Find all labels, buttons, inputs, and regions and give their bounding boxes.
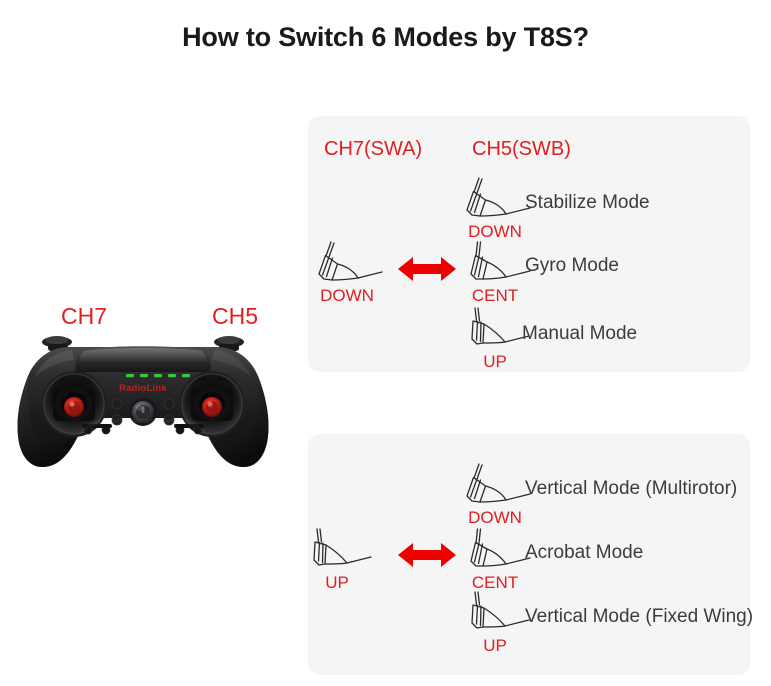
switch-position-label: DOWN xyxy=(310,286,384,306)
transmitter-caption-ch7: CH7 xyxy=(61,303,107,330)
radiolink-t8s-transmitter: RadioLink xyxy=(12,334,274,500)
switch-ch5-up-vertical-fixedwing[interactable]: UP xyxy=(458,590,532,654)
mode-label-gyro: Gyro Mode xyxy=(525,255,619,277)
switch-position-label: DOWN xyxy=(458,508,532,528)
switch-position-label: UP xyxy=(458,636,532,656)
mode-label-acrobat: Acrobat Mode xyxy=(525,542,643,564)
mode-label-manual: Manual Mode xyxy=(522,323,637,345)
mode-label-stabilize: Stabilize Mode xyxy=(525,192,650,214)
mode-label-vertical-multirotor: Vertical Mode (Multirotor) xyxy=(525,478,737,500)
switch-ch5-up-manual[interactable]: UP xyxy=(458,306,532,370)
mode-label-vertical-fixedwing: Vertical Mode (Fixed Wing) xyxy=(525,606,753,628)
double-arrow-horizontal-icon xyxy=(398,539,456,571)
page-title: How to Switch 6 Modes by T8S? xyxy=(0,22,771,53)
column-header-ch5: CH5(SWB) xyxy=(472,138,571,161)
switch-position-label: UP xyxy=(300,573,374,593)
transmitter-caption-ch5: CH5 xyxy=(212,303,258,330)
switch-ch5-cent-acrobat[interactable]: CENT xyxy=(458,527,532,591)
switch-ch5-down-vertical-multirotor[interactable]: DOWN xyxy=(458,462,532,526)
switch-position-label: UP xyxy=(458,352,532,372)
switch-position-label: CENT xyxy=(458,286,532,306)
column-header-ch7: CH7(SWA) xyxy=(324,138,422,161)
svg-text:RadioLink: RadioLink xyxy=(119,383,167,394)
double-arrow-horizontal-icon xyxy=(398,253,456,285)
switch-ch5-down-stabilize[interactable]: DOWN xyxy=(458,176,532,240)
switch-position-label: DOWN xyxy=(458,222,532,242)
switch-ch7-down[interactable]: DOWN xyxy=(310,240,384,304)
switch-ch7-up[interactable]: UP xyxy=(300,527,374,591)
switch-ch5-cent-gyro[interactable]: CENT xyxy=(458,240,532,304)
